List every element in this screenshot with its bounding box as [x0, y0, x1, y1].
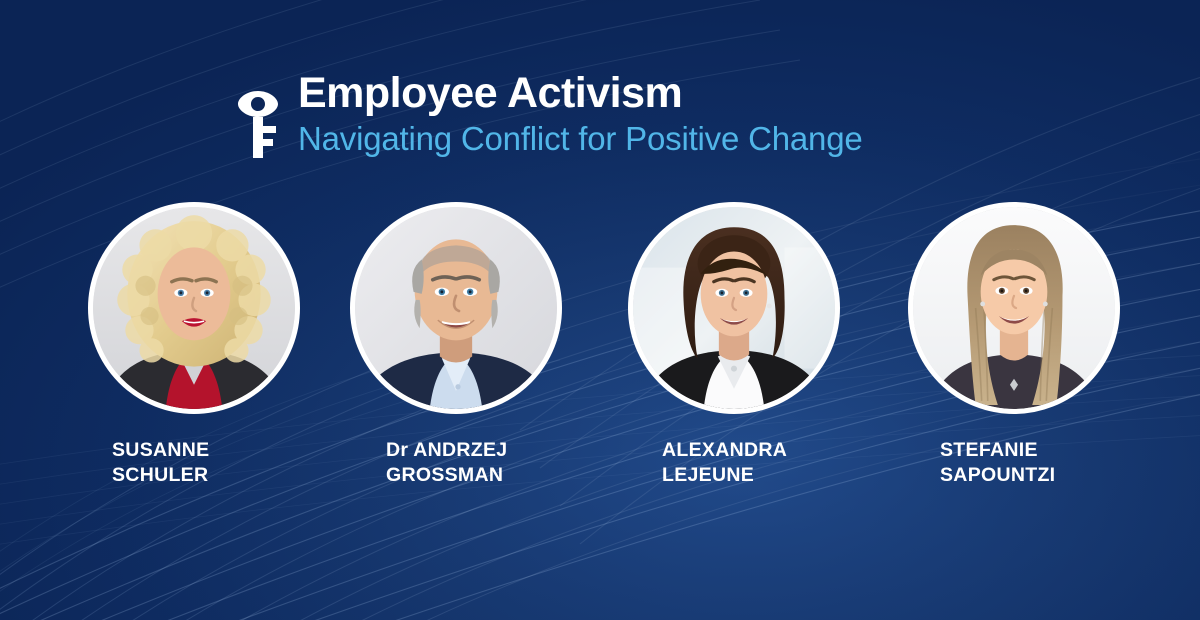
avatar — [350, 202, 562, 414]
portrait-stefanie-sapountzi — [913, 207, 1115, 409]
portrait-susanne-schuler — [93, 207, 295, 409]
speaker-card-susanne-schuler: SUSANNE SCHULER — [88, 202, 368, 487]
speaker-name: Dr ANDRZEJ GROSSMAN — [350, 438, 630, 487]
avatar — [88, 202, 300, 414]
speaker-card-andrzej-grossman: Dr ANDRZEJ GROSSMAN — [350, 202, 630, 487]
banner-title: Employee Activism — [298, 72, 863, 116]
banner-header: Employee Activism Navigating Conflict fo… — [236, 72, 863, 160]
speaker-card-alexandra-lejeune: ALEXANDRA LEJEUNE — [628, 202, 908, 487]
speaker-list: SUSANNE SCHULER — [0, 202, 1200, 502]
banner-subtitle: Navigating Conflict for Positive Change — [298, 121, 863, 158]
banner-title-group: Employee Activism Navigating Conflict fo… — [298, 72, 863, 158]
avatar — [628, 202, 840, 414]
avatar — [908, 202, 1120, 414]
key-icon — [236, 88, 280, 160]
speaker-name: STEFANIE SAPOUNTZI — [908, 438, 1188, 487]
speaker-name: ALEXANDRA LEJEUNE — [628, 438, 908, 487]
speaker-name: SUSANNE SCHULER — [88, 438, 368, 487]
portrait-andrzej-grossman — [355, 207, 557, 409]
speaker-card-stefanie-sapountzi: STEFANIE SAPOUNTZI — [908, 202, 1188, 487]
portrait-alexandra-lejeune — [633, 207, 835, 409]
banner-root: Employee Activism Navigating Conflict fo… — [0, 0, 1200, 620]
